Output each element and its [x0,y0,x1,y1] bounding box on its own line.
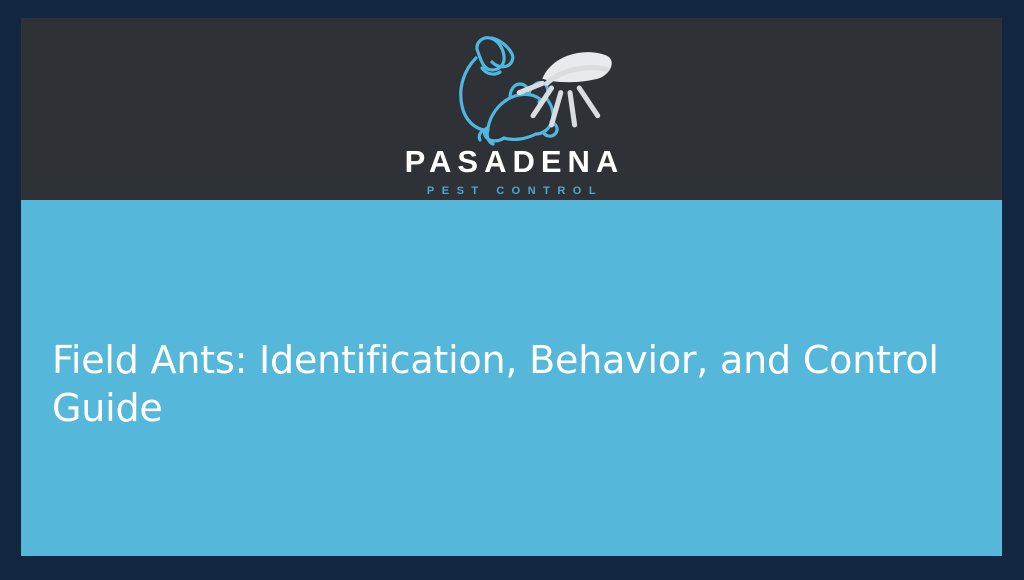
slide-frame: PASADENA PEST CONTROL Field Ants: Identi… [0,0,1024,580]
slide-title: Field Ants: Identification, Behavior, an… [52,337,972,432]
slide-canvas: PASADENA PEST CONTROL Field Ants: Identi… [21,18,1002,556]
brand-lockup: PASADENA PEST CONTROL [21,18,1002,200]
mouse-with-net-icon [452,24,572,152]
brand-tagline: PEST CONTROL [420,186,603,197]
fly-icon [510,24,536,46]
content-band: Field Ants: Identification, Behavior, an… [21,200,1002,556]
brand-header: PASADENA PEST CONTROL [21,18,1002,200]
